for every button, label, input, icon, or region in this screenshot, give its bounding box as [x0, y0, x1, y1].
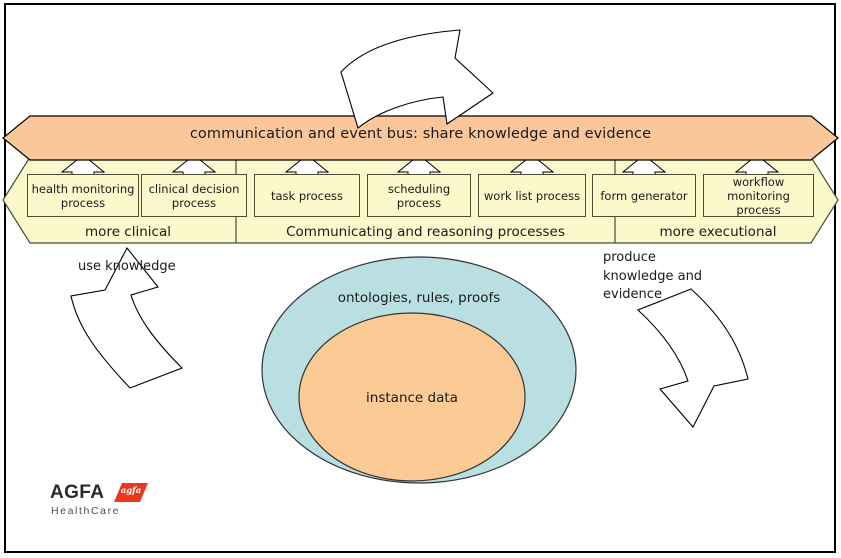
- agfa-healthcare-subtitle: HealthCare: [51, 505, 120, 517]
- use-knowledge-caption: use knowledge: [78, 258, 218, 277]
- diagram-shapes: [0, 0, 841, 558]
- process-box-work-list[interactable]: work list process: [478, 174, 586, 217]
- process-box-workflow-monitoring[interactable]: workflow monitoring process: [703, 174, 814, 217]
- agfa-rhombus-label: agfa: [114, 486, 148, 496]
- produce-knowledge-caption: produce knowledge and evidence: [603, 249, 707, 305]
- process-box-form-generator[interactable]: form generator: [592, 174, 696, 217]
- band-section-more-executional: more executional: [615, 222, 821, 242]
- agfa-wordmark: AGFA: [50, 482, 104, 504]
- outer-ellipse-label: ontologies, rules, proofs: [289, 290, 549, 306]
- event-bus-label: communication and event bus: share knowl…: [0, 126, 841, 142]
- produce-knowledge-arrow: [638, 289, 748, 427]
- process-box-task-process[interactable]: task process: [254, 174, 360, 217]
- feedback-arrow: [341, 30, 493, 128]
- agfa-healthcare-logo: AGFA agfa HealthCare: [50, 482, 170, 522]
- band-section-more-clinical: more clinical: [20, 222, 236, 242]
- process-box-clinical-decision[interactable]: clinical decision process: [141, 174, 247, 217]
- inner-ellipse-label: instance data: [302, 390, 522, 406]
- band-section-communicating-reasoning: Communicating and reasoning processes: [236, 222, 615, 242]
- diagram-canvas: communication and event bus: share knowl…: [0, 0, 841, 558]
- process-box-scheduling[interactable]: scheduling process: [367, 174, 471, 217]
- process-box-health-monitoring[interactable]: health monitoring process: [27, 174, 139, 217]
